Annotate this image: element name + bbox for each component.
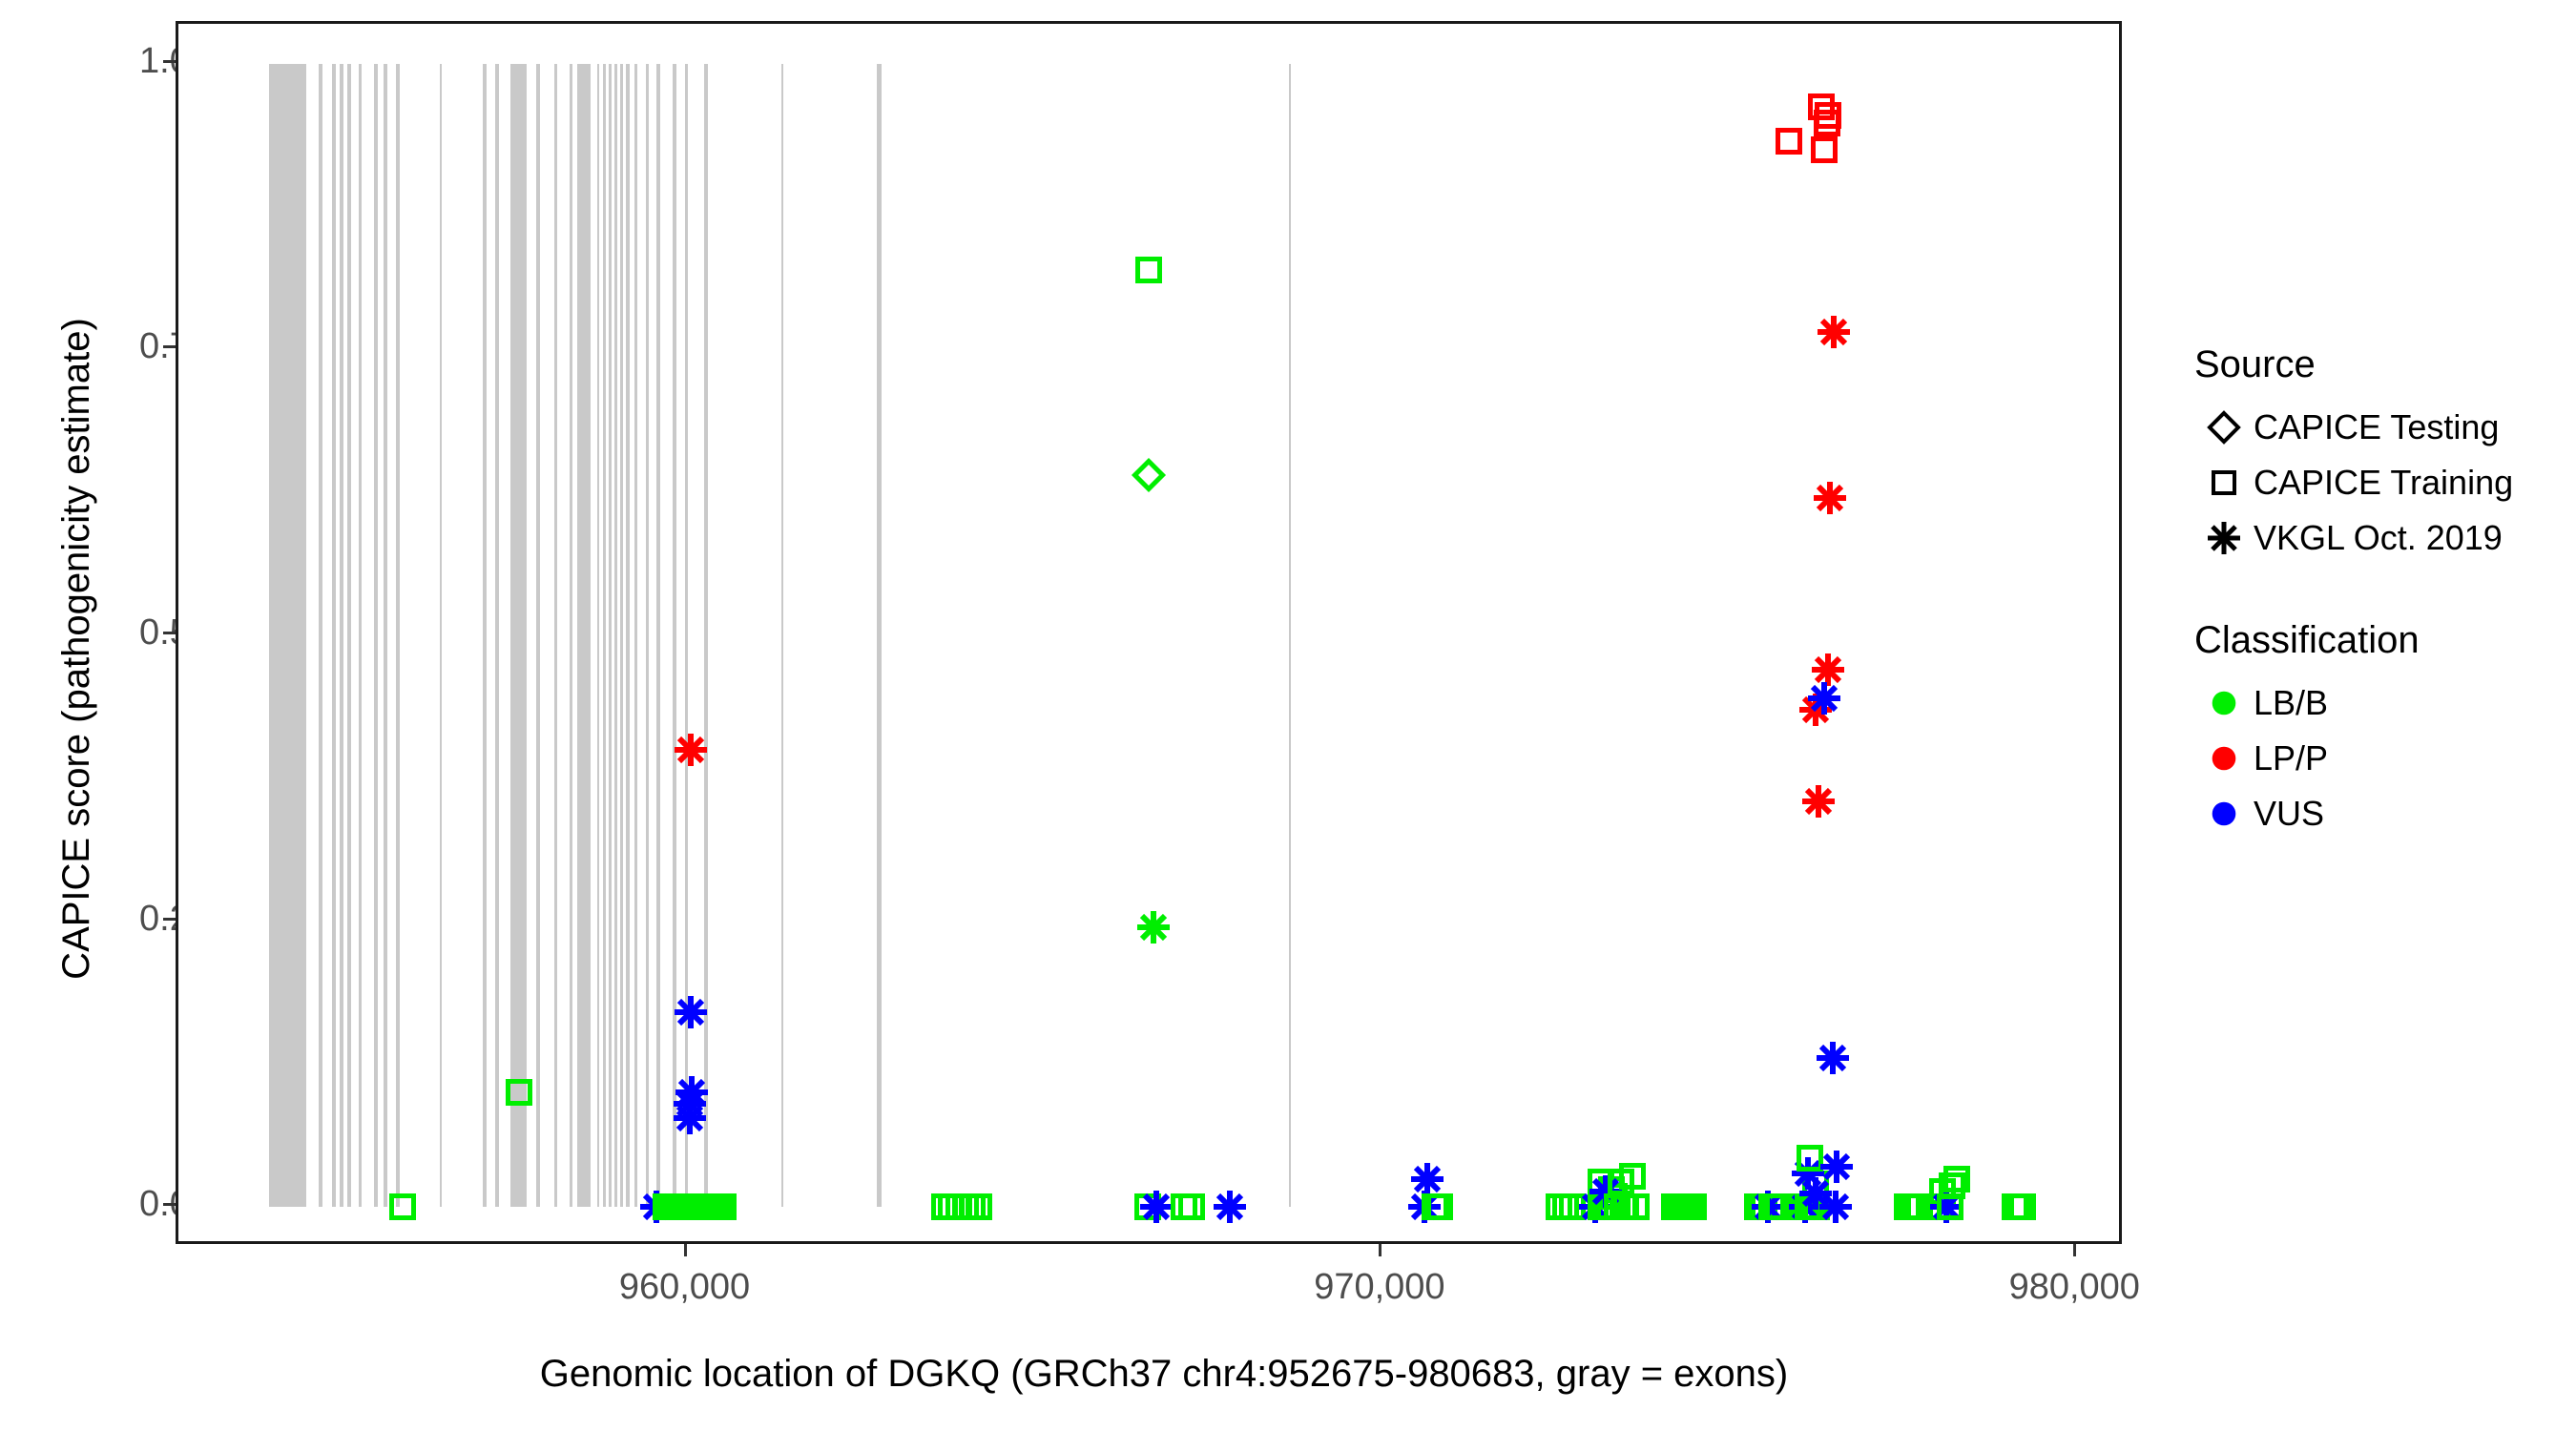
data-point [1665,1193,1692,1220]
data-point [1808,93,1835,120]
data-point [1601,1183,1628,1210]
exon-band [483,64,486,1207]
plot-area [178,24,2119,1241]
data-point [2002,1193,2028,1220]
data-point [1798,1193,1825,1220]
data-point [1943,1166,1970,1192]
data-point [1591,1193,1618,1220]
legend-item-source[interactable]: VKGL Oct. 2019 [2194,510,2576,566]
exon-band [332,64,335,1207]
legend: Source CAPICE TestingCAPICE TrainingVKGL… [2194,343,2576,841]
data-point [1171,1193,1197,1220]
data-point [1680,1193,1707,1220]
filled-circle-icon [2194,786,2254,841]
data-point [1799,694,1832,726]
data-point [1761,1193,1788,1220]
data-point [1140,1191,1173,1223]
data-point [1790,1193,1817,1220]
exon-band [620,64,623,1207]
data-point [674,1102,706,1134]
data-point [1819,1191,1852,1223]
data-point [1815,102,1841,129]
legend-item-classification[interactable]: LP/P [2194,731,2576,786]
data-point [1744,1193,1771,1220]
data-point [1792,1157,1824,1190]
data-point [1799,1177,1832,1210]
legend-item-classification[interactable]: LB/B [2194,675,2576,731]
y-tick-mark [163,345,176,348]
data-point [706,1193,733,1220]
data-point [1925,1193,1952,1220]
filled-circle-icon [2194,731,2254,786]
exon-band [440,64,443,1207]
plot-panel [176,21,2122,1244]
exon-band [570,64,573,1207]
data-point [1758,1193,1785,1220]
data-point [931,1193,958,1220]
exon-band [374,64,378,1207]
data-point [1814,110,1840,136]
data-point [1776,128,1802,155]
legend-title-classification: Classification [2194,619,2576,662]
data-point [1799,1193,1826,1220]
data-point [697,1193,724,1220]
exon-band [603,64,606,1207]
exon-band [340,64,343,1207]
data-point [695,1193,721,1220]
exon-band [384,64,387,1207]
exon-band [536,64,539,1207]
exon-band [495,64,498,1207]
x-axis-title: Genomic location of DGKQ (GRCh37 chr4:95… [200,1353,2128,1396]
data-point [966,1193,992,1220]
y-tick-mark [163,60,176,63]
data-point [1937,1193,1963,1220]
data-point [1598,1176,1625,1203]
data-point [1752,1191,1784,1223]
square-icon [2194,455,2254,510]
data-point [1765,1193,1792,1220]
data-point [1411,1163,1444,1195]
data-point [2005,1193,2032,1220]
x-tick-label: 970,000 [1256,1269,1504,1305]
data-point [945,1193,972,1220]
exon-band [577,64,590,1207]
data-point [1588,1193,1614,1220]
data-point [1612,1193,1639,1220]
data-point [675,996,707,1028]
data-point [674,1088,706,1120]
legend-label: CAPICE Testing [2254,407,2499,447]
data-point [1930,1191,1963,1223]
x-tick-label: 960,000 [561,1269,809,1305]
exon-band [510,64,527,1207]
exon-band [609,64,612,1207]
legend-item-classification[interactable]: VUS [2194,786,2576,841]
data-point [1426,1193,1453,1220]
data-point [675,734,707,766]
exon-band [685,64,689,1207]
data-point [1939,1172,1965,1199]
data-point [1132,459,1165,491]
data-point [1552,1193,1579,1220]
data-point [959,1193,986,1220]
y-tick-mark [163,1203,176,1206]
data-point [1619,1163,1646,1190]
data-point [1588,1169,1614,1195]
exon-band [347,64,351,1207]
data-point [1673,1193,1700,1220]
data-point [1748,1193,1775,1220]
legend-title-source: Source [2194,343,2576,386]
data-point [1797,1145,1823,1172]
exon-band [554,64,557,1207]
data-point [1546,1193,1572,1220]
data-point [1670,1193,1696,1220]
data-point [1677,1193,1704,1220]
data-point [1623,1193,1650,1220]
data-point [675,1076,708,1109]
data-point [1906,1193,1933,1220]
exon-band [781,64,784,1207]
legend-label: VKGL Oct. 2019 [2254,518,2503,558]
data-point [1135,257,1162,283]
data-point [1137,911,1170,944]
data-point [938,1193,965,1220]
exon-band [634,64,638,1207]
exon-band [359,64,362,1207]
exon-band [597,64,600,1207]
data-point [1817,1042,1849,1074]
data-point [1579,1191,1611,1223]
data-point [1751,1193,1777,1220]
legend-group-classification: LB/BLP/PVUS [2194,675,2576,841]
legend-item-source[interactable]: CAPICE Training [2194,455,2576,510]
exon-band [1289,64,1292,1207]
exon-band [269,64,306,1207]
data-point [1898,1193,1924,1220]
x-tick-mark [2073,1244,2076,1256]
exon-band [396,64,399,1207]
data-point [1789,1191,1821,1223]
data-point [1811,136,1838,163]
legend-label: LP/P [2254,738,2328,778]
diamond-icon [2194,400,2254,455]
data-point [1795,1193,1821,1220]
data-point [710,1193,737,1220]
x-tick-mark [1379,1244,1381,1256]
exon-band [319,64,322,1207]
exon-band [626,64,629,1207]
data-point [687,1193,714,1220]
exon-band [656,64,659,1207]
data-point [1422,1193,1448,1220]
data-point [1802,1171,1829,1197]
x-tick-mark [684,1244,687,1256]
data-point [1894,1193,1921,1220]
exon-band [646,64,649,1207]
legend-spacer [2194,566,2576,619]
data-point [1134,1193,1161,1220]
exon-band [877,64,883,1207]
data-point [1802,785,1835,818]
x-tick-label: 980,000 [1950,1269,2198,1305]
data-point [1596,1193,1623,1220]
data-point [1929,1178,1956,1205]
exon-band [673,64,676,1207]
data-point [2009,1193,2036,1220]
data-point [1214,1191,1246,1223]
data-point [1604,1193,1631,1220]
data-point [1408,1191,1441,1223]
data-point [1808,682,1840,715]
data-point [1559,1193,1586,1220]
exon-band [614,64,617,1207]
data-point [1902,1193,1929,1220]
data-point [1820,1151,1853,1183]
asterisk-icon [2194,510,2254,566]
data-point [1818,316,1850,348]
legend-label: VUS [2254,794,2324,834]
y-tick-mark [163,632,176,634]
y-tick-mark [163,918,176,921]
legend-label: CAPICE Training [2254,463,2513,503]
legend-label: LB/B [2254,683,2328,723]
data-point [1589,1175,1622,1208]
data-point [1812,653,1844,686]
data-point [1178,1193,1205,1220]
data-point [1803,1193,1830,1220]
data-point [1608,1169,1634,1195]
data-point [1661,1193,1688,1220]
data-point [952,1193,979,1220]
data-point [1814,482,1846,514]
data-point [1610,1193,1637,1220]
legend-item-source[interactable]: CAPICE Testing [2194,400,2576,455]
exon-band [704,64,708,1207]
data-point [667,1193,694,1220]
chart-root: CAPICE score (pathogenicity estimate) 0.… [0,0,2576,1431]
filled-circle-icon [2194,675,2254,731]
data-point [676,1193,703,1220]
legend-group-source: CAPICE TestingCAPICE TrainingVKGL Oct. 2… [2194,400,2576,566]
data-point [389,1193,416,1220]
